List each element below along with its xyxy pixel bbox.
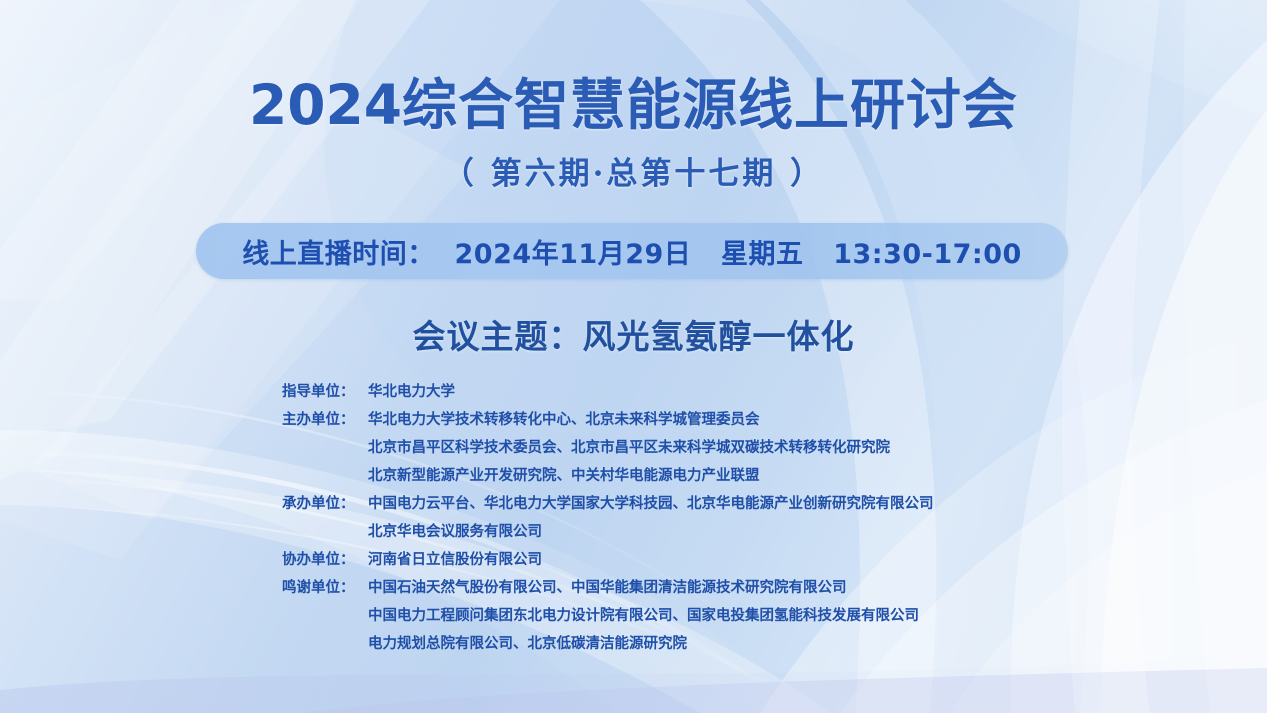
list-item: 北京市昌平区科学技术委员会、北京市昌平区未来科学城双碳技术转移转化研究院 xyxy=(282,434,934,462)
list-item: 主办单位： 华北电力大学技术转移转化中心、北京未来科学城管理委员会 xyxy=(282,406,934,434)
org-value: 电力规划总院有限公司、北京低碳清洁能源研究院 xyxy=(368,630,687,658)
livestream-time-text: 线上直播时间： 2024年11月29日 星期五 13:30-17:00 xyxy=(196,223,1068,279)
org-value: 北京新型能源产业开发研究院、中关村华电能源电力产业联盟 xyxy=(368,462,760,490)
org-label: 鸣谢单位： xyxy=(282,574,368,602)
list-item: 中国电力工程顾问集团东北电力设计院有限公司、国家电投集团氢能科技发展有限公司 xyxy=(282,602,934,630)
conference-poster: 2024综合智慧能源线上研讨会 （ 第六期·总第十七期 ） 线上直播时间： 20… xyxy=(0,0,1267,713)
org-value: 北京市昌平区科学技术委员会、北京市昌平区未来科学城双碳技术转移转化研究院 xyxy=(368,434,890,462)
subtitle-issue: （ 第六期·总第十七期 ） xyxy=(0,148,1267,193)
page-title: 2024综合智慧能源线上研讨会 xyxy=(0,60,1267,140)
title-year: 2024 xyxy=(249,73,402,137)
list-item: 指导单位： 华北电力大学 xyxy=(282,378,934,406)
org-value: 河南省日立信股份有限公司 xyxy=(368,546,542,574)
org-label: 承办单位： xyxy=(282,490,368,518)
org-label: 指导单位： xyxy=(282,378,368,406)
conference-theme: 会议主题：风光氢氨醇一体化 xyxy=(0,310,1267,358)
org-value: 中国电力云平台、华北电力大学国家大学科技园、北京华电能源产业创新研究院有限公司 xyxy=(368,490,934,518)
list-item: 承办单位： 中国电力云平台、华北电力大学国家大学科技园、北京华电能源产业创新研究… xyxy=(282,490,934,518)
org-value: 中国电力工程顾问集团东北电力设计院有限公司、国家电投集团氢能科技发展有限公司 xyxy=(368,602,919,630)
list-item: 鸣谢单位： 中国石油天然气股份有限公司、中国华能集团清洁能源技术研究院有限公司 xyxy=(282,574,934,602)
org-value: 华北电力大学技术转移转化中心、北京未来科学城管理委员会 xyxy=(368,406,760,434)
list-item: 协办单位： 河南省日立信股份有限公司 xyxy=(282,546,934,574)
list-item: 北京新型能源产业开发研究院、中关村华电能源电力产业联盟 xyxy=(282,462,934,490)
list-item: 电力规划总院有限公司、北京低碳清洁能源研究院 xyxy=(282,630,934,658)
list-item: 北京华电会议服务有限公司 xyxy=(282,518,934,546)
org-label: 主办单位： xyxy=(282,406,368,434)
org-value: 北京华电会议服务有限公司 xyxy=(368,518,542,546)
org-value: 中国石油天然气股份有限公司、中国华能集团清洁能源技术研究院有限公司 xyxy=(368,574,847,602)
org-label: 协办单位： xyxy=(282,546,368,574)
organizations-list: 指导单位： 华北电力大学 主办单位： 华北电力大学技术转移转化中心、北京未来科学… xyxy=(282,378,934,658)
title-text: 综合智慧能源线上研讨会 xyxy=(402,73,1018,137)
org-value: 华北电力大学 xyxy=(368,378,455,406)
